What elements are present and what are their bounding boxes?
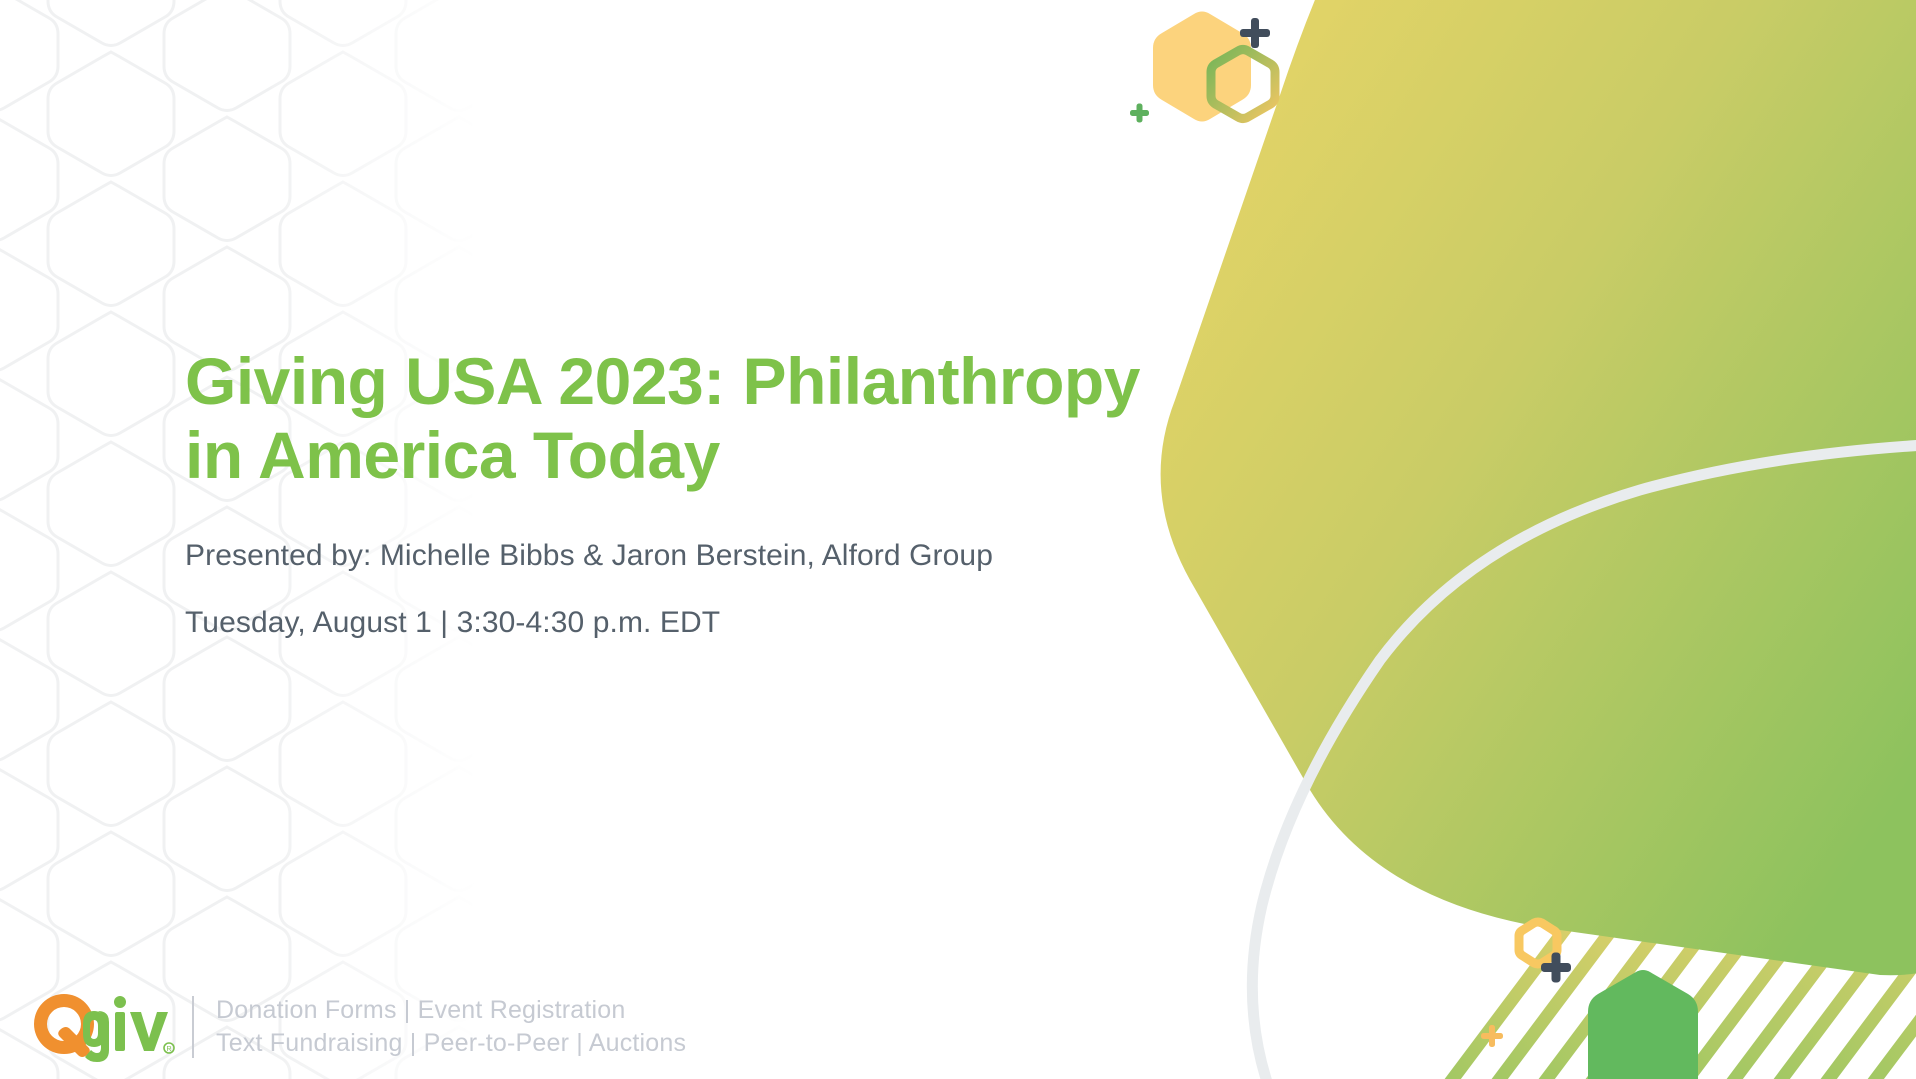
footer-tagline: Donation Forms | Event Registration Text…	[216, 994, 686, 1060]
qgiv-logo-icon: R	[26, 989, 178, 1065]
datetime-line: Tuesday, August 1 | 3:30-4:30 p.m. EDT	[185, 600, 1185, 645]
tagline-line-2: Text Fundraising | Peer-to-Peer | Auctio…	[216, 1027, 686, 1060]
footer: R Donation Forms | Event Registration Te…	[26, 989, 686, 1065]
tagline-line-1: Donation Forms | Event Registration	[216, 994, 686, 1027]
slide-canvas: Giving USA 2023: Philanthropy in America…	[0, 0, 1916, 1079]
svg-text:R: R	[166, 1046, 171, 1053]
page-title: Giving USA 2023: Philanthropy in America…	[185, 345, 1145, 493]
footer-divider	[192, 996, 194, 1058]
slide-content: Giving USA 2023: Philanthropy in America…	[185, 345, 1185, 645]
presenter-line: Presented by: Michelle Bibbs & Jaron Ber…	[185, 533, 1185, 578]
qgiv-logo: R	[26, 989, 178, 1065]
